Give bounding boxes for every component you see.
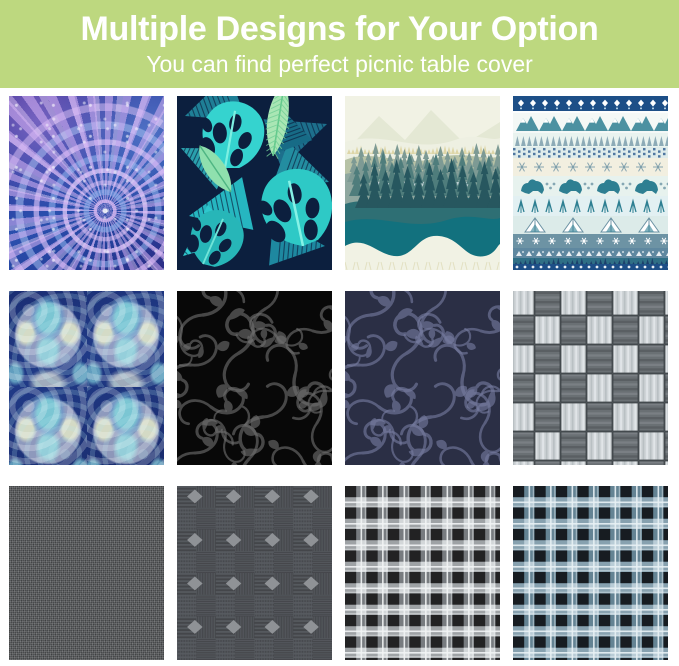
page-subtitle: You can find perfect picnic table cover bbox=[146, 52, 533, 76]
swatch-plaid-blue-gray bbox=[513, 486, 668, 660]
design-tile-basket-weave[interactable] bbox=[513, 291, 668, 465]
design-tile-black-scroll-damask[interactable] bbox=[177, 291, 332, 465]
swatch-tropical-leaves bbox=[177, 96, 332, 270]
page-title: Multiple Designs for Your Option bbox=[80, 12, 598, 48]
swatch-forest-landscape bbox=[345, 96, 500, 270]
design-tile-buffalo-check-gray[interactable] bbox=[345, 486, 500, 660]
design-tile-gray-linen-texture[interactable] bbox=[9, 486, 164, 660]
swatch-nordic-fair-isle bbox=[513, 96, 668, 270]
swatch-diamond-lattice bbox=[177, 486, 332, 660]
design-tile-nordic-fair-isle[interactable] bbox=[513, 96, 668, 270]
design-tile-plaid-blue-gray[interactable] bbox=[513, 486, 668, 660]
banner-header: Multiple Designs for Your Option You can… bbox=[0, 0, 679, 88]
swatch-mandala-bohemian bbox=[9, 96, 164, 270]
design-tile-navy-scroll-damask[interactable] bbox=[345, 291, 500, 465]
product-feature-image: Multiple Designs for Your Option You can… bbox=[0, 0, 679, 666]
swatch-blue-damask-medallion bbox=[9, 291, 164, 465]
design-grid bbox=[9, 96, 671, 660]
swatch-black-scroll-damask bbox=[177, 291, 332, 465]
design-tile-mandala-bohemian[interactable] bbox=[9, 96, 164, 270]
swatch-basket-weave bbox=[513, 291, 668, 465]
swatch-gray-linen-texture bbox=[9, 486, 164, 660]
design-tile-forest-landscape[interactable] bbox=[345, 96, 500, 270]
swatch-buffalo-check-gray bbox=[345, 486, 500, 660]
design-tile-tropical-leaves[interactable] bbox=[177, 96, 332, 270]
swatch-navy-scroll-damask bbox=[345, 291, 500, 465]
design-tile-blue-damask-medallion[interactable] bbox=[9, 291, 164, 465]
design-tile-diamond-lattice[interactable] bbox=[177, 486, 332, 660]
